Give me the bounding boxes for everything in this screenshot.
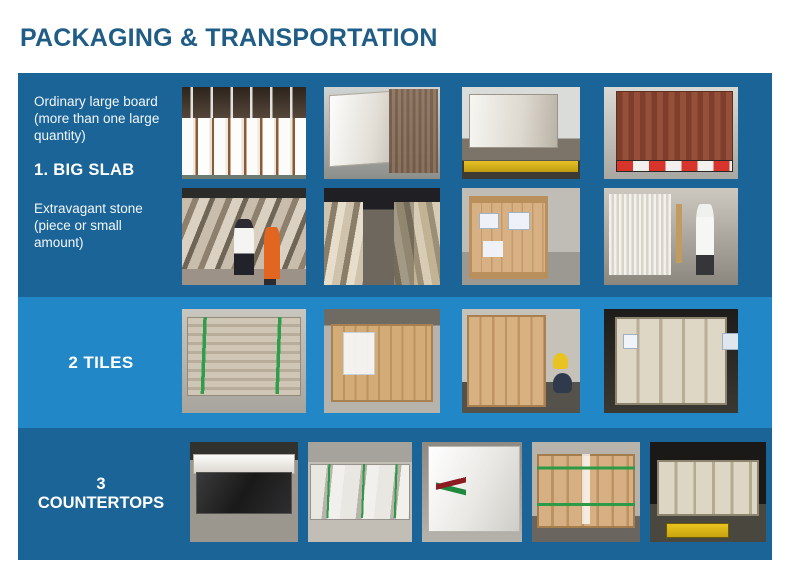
photo-black-countertop-on-white-slab-pack [190, 442, 298, 542]
photo-container-interior-with-white-slab-packs [324, 87, 440, 179]
photo-fully-loaded-container-door-view [604, 309, 738, 413]
caption-extravagant-stone: Extravagant stone (piece or small amount… [34, 200, 168, 251]
row-tiles: 2 TILES [18, 297, 772, 428]
photo-grey-marble-bundles-with-green-straps [308, 442, 412, 542]
photo-row-big-slab-extravagant [178, 188, 772, 285]
photo-pallet-crates-wrapped-in-plastic [324, 309, 440, 413]
row-tiles-labels: 2 TILES [18, 297, 178, 428]
photo-loaded-container-with-yellow-placard [650, 442, 766, 542]
photo-slab-warehouse-aisle-with-worker [324, 188, 440, 285]
heading-tiles: 2 TILES [34, 353, 168, 373]
photo-row-big-slab-ordinary [178, 87, 772, 179]
photo-row-tiles [178, 309, 772, 413]
photo-workers-inspecting-granite-slabs [182, 188, 306, 285]
photo-crate-loading-with-helmeted-worker [462, 309, 580, 413]
photo-worker-bracing-cargo-inside-container [604, 188, 738, 285]
row-big-slab-labels: Ordinary large board (more than one larg… [18, 73, 178, 297]
photo-rear-of-brown-shipping-container-on-truck [604, 87, 738, 179]
caption-ordinary-large-board: Ordinary large board (more than one larg… [34, 93, 168, 144]
slide-canvas: PACKAGING & TRANSPORTATION Ordinary larg… [0, 0, 790, 584]
packaging-panel: Ordinary large board (more than one larg… [18, 73, 772, 560]
photo-strapped-tile-stack-with-green-bands [182, 309, 306, 413]
photo-wooden-crates-with-shipping-labels [462, 188, 580, 285]
photo-truck-bed-loaded-with-slab-crates [462, 87, 580, 179]
heading-big-slab: 1. BIG SLAB [34, 161, 168, 180]
heading-countertops: 3 COUNTERTOPS [34, 475, 168, 513]
row-countertops-labels: 3 COUNTERTOPS [18, 428, 178, 560]
photo-two-strapped-crates-on-pallet [532, 442, 640, 542]
photo-white-wrapped-bundle-with-red-green-straps [422, 442, 522, 542]
row-countertops: 3 COUNTERTOPS [18, 428, 772, 560]
photo-row-countertops [178, 442, 772, 542]
page-title: PACKAGING & TRANSPORTATION [20, 24, 438, 53]
photo-wrapped-white-slab-bundles-in-warehouse [182, 87, 306, 179]
row-big-slab: Ordinary large board (more than one larg… [18, 73, 772, 297]
